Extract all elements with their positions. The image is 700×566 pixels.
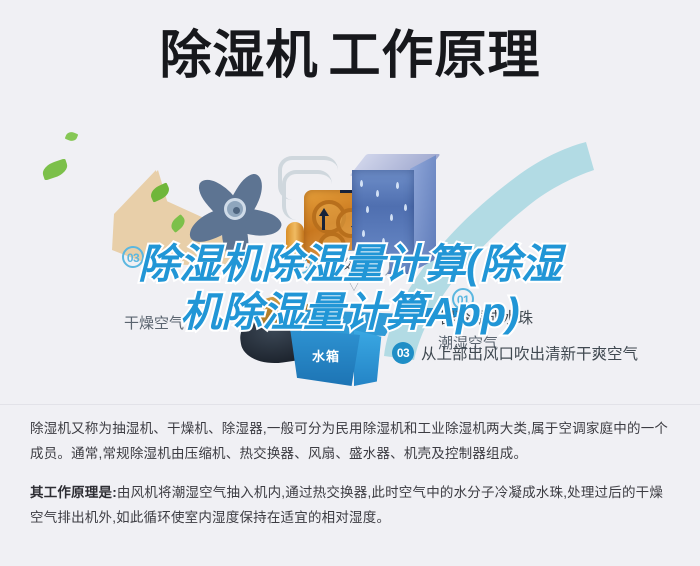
body-paragraph-1: 除湿机又称为抽湿机、干燥机、除湿器,一般可分为民用除湿机和工业除湿机两大类,属于…	[30, 416, 675, 466]
leaf-icon	[65, 130, 79, 142]
article-body: 除湿机又称为抽湿机、干燥机、除湿器,一般可分为民用除湿机和工业除湿机两大类,属于…	[30, 416, 675, 544]
overlay-headline-line1: 除湿机除湿量计算(除湿	[0, 240, 700, 288]
water-tank-label: 水箱	[312, 346, 340, 365]
overlay-headline-line2: 机除湿量计算App)	[0, 288, 700, 336]
page-title-part2: 工作原理	[329, 27, 541, 85]
infographic-page: 除湿机工作原理	[0, 0, 700, 566]
section-divider	[0, 404, 700, 405]
body-paragraph-2-lead: 其工作原理是:	[30, 485, 117, 500]
body-paragraph-2-rest: 由风机将潮湿空气抽入机内,通过热交换器,此时空气中的水分子冷凝成水珠,处理过后的…	[30, 485, 663, 525]
body-paragraph-2: 其工作原理是:由风机将潮湿空气抽入机内,通过热交换器,此时空气中的水分子冷凝成水…	[30, 480, 675, 530]
step3-caption: 03 从上部出风口吹出清新干爽空气	[392, 342, 638, 364]
page-title-part1: 除湿机	[159, 27, 318, 85]
page-title: 除湿机工作原理	[0, 24, 700, 88]
step-badge-03-filled: 03	[392, 342, 414, 364]
overlay-headline: 除湿机除湿量计算(除湿 机除湿量计算App)	[0, 240, 700, 336]
step3-caption-text: 从上部出风口吹出清新干爽空气	[421, 342, 638, 364]
